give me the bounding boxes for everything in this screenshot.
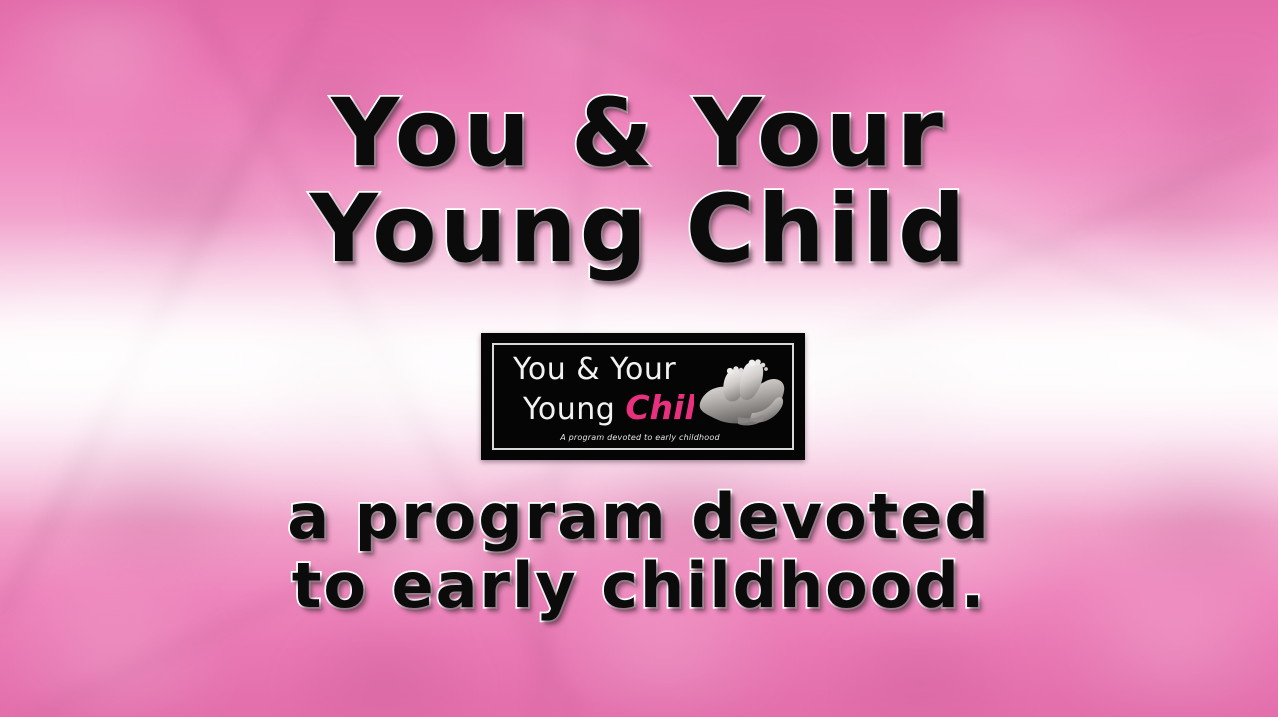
page-title: You & Your Young Child <box>0 86 1278 278</box>
program-logo: You & Your Young Child <box>481 333 805 460</box>
logo-word-young: Young <box>523 392 625 427</box>
slide-canvas: You & Your Young Child You & Your Young … <box>0 0 1278 717</box>
hand-holding-baby-feet-photo <box>694 351 790 435</box>
logo-tagline: A program devoted to early childhood <box>494 433 792 442</box>
title-line-2: Young Child <box>0 182 1278 278</box>
tagline-line-1: a program devoted <box>0 482 1278 551</box>
title-line-1: You & Your <box>0 86 1278 182</box>
tagline-line-2: to early childhood. <box>0 551 1278 620</box>
slide-tagline: a program devoted to early childhood. <box>0 482 1278 621</box>
logo-inner-frame: You & Your Young Child <box>492 343 794 450</box>
